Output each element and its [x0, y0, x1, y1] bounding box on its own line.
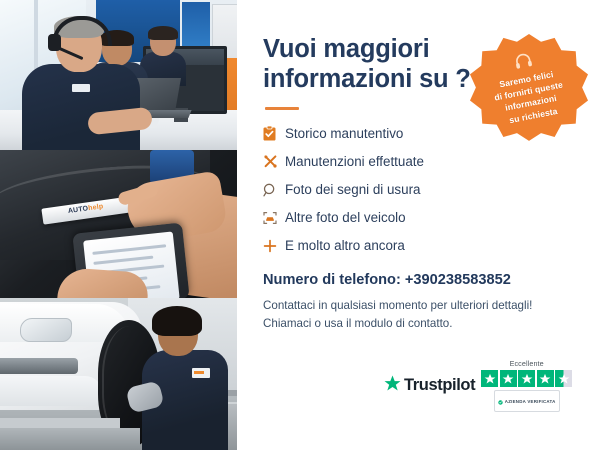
- trustpilot-widget[interactable]: Trustpilot Eccellente: [384, 359, 572, 412]
- star-icon: [481, 370, 498, 387]
- list-item: Altre foto del veicolo: [263, 208, 574, 227]
- promo-banner: AUTOhelp: [0, 0, 600, 450]
- call-center-agents-photo: [0, 0, 237, 150]
- star-icon: [500, 370, 517, 387]
- car-scan-icon: [263, 211, 285, 225]
- list-item-label: Foto dei segni di usura: [285, 182, 420, 197]
- trustpilot-logo: Trustpilot: [384, 375, 475, 397]
- phone-number[interactable]: +390238583852: [405, 272, 511, 288]
- headset-icon: [512, 50, 534, 72]
- headline-line-2: informazioni su ?: [263, 65, 471, 93]
- photo-column: AUTOhelp: [0, 0, 237, 450]
- verified-badge: AZIENDA VERIFICATA: [494, 390, 560, 412]
- list-item-label: Storico manutentivo: [285, 126, 403, 141]
- list-item: Manutenzioni effettuate: [263, 152, 574, 171]
- trustpilot-star-icon: [384, 375, 401, 397]
- callout-badge: Saremo felici di fornirti queste informa…: [470, 34, 588, 152]
- check-shield-icon: [498, 392, 503, 410]
- trustpilot-rating-label: Eccellente: [510, 359, 544, 368]
- clipboard-check-icon: [263, 126, 285, 141]
- star-icon: [537, 370, 554, 387]
- car-inspection-tablet-photo: AUTOhelp: [0, 150, 237, 298]
- tools-cross-icon: [263, 154, 285, 169]
- list-item-label: E molto altro ancora: [285, 238, 405, 253]
- trustpilot-stars: [481, 370, 572, 387]
- star-icon-partial: [555, 370, 572, 387]
- contact-note-line-1: Contattaci in qualsiasi momento per ulte…: [263, 297, 574, 315]
- star-icon: [518, 370, 535, 387]
- list-item-label: Altre foto del veicolo: [285, 210, 406, 225]
- list-item-label: Manutenzioni effettuate: [285, 154, 424, 169]
- contact-note: Contattaci in qualsiasi momento per ulte…: [263, 297, 574, 333]
- badge-text: Saremo felici di fornirti queste informa…: [491, 67, 569, 128]
- magnifier-icon: [263, 183, 285, 197]
- contact-note-line-2: Chiamaci o usa il modulo di contatto.: [263, 315, 574, 333]
- plus-icon: [263, 239, 285, 253]
- phone-label: Numero di telefono:: [263, 272, 401, 288]
- trustpilot-rating: Eccellente: [481, 359, 572, 412]
- content-panel: Vuoi maggiori informazioni su ? Storico …: [237, 0, 600, 450]
- trustpilot-brand: Trustpilot: [404, 376, 475, 395]
- verified-label: AZIENDA VERIFICATA: [505, 399, 556, 404]
- list-item: Foto dei segni di usura: [263, 180, 574, 199]
- list-item: E molto altro ancora: [263, 236, 574, 255]
- page-title: Vuoi maggiori informazioni su ?: [263, 34, 478, 94]
- phone-line: Numero di telefono: +390238583852: [263, 272, 574, 288]
- headline-line-1: Vuoi maggiori: [263, 35, 429, 63]
- accent-divider: [265, 107, 299, 110]
- mechanic-wheel-photo: [0, 298, 237, 450]
